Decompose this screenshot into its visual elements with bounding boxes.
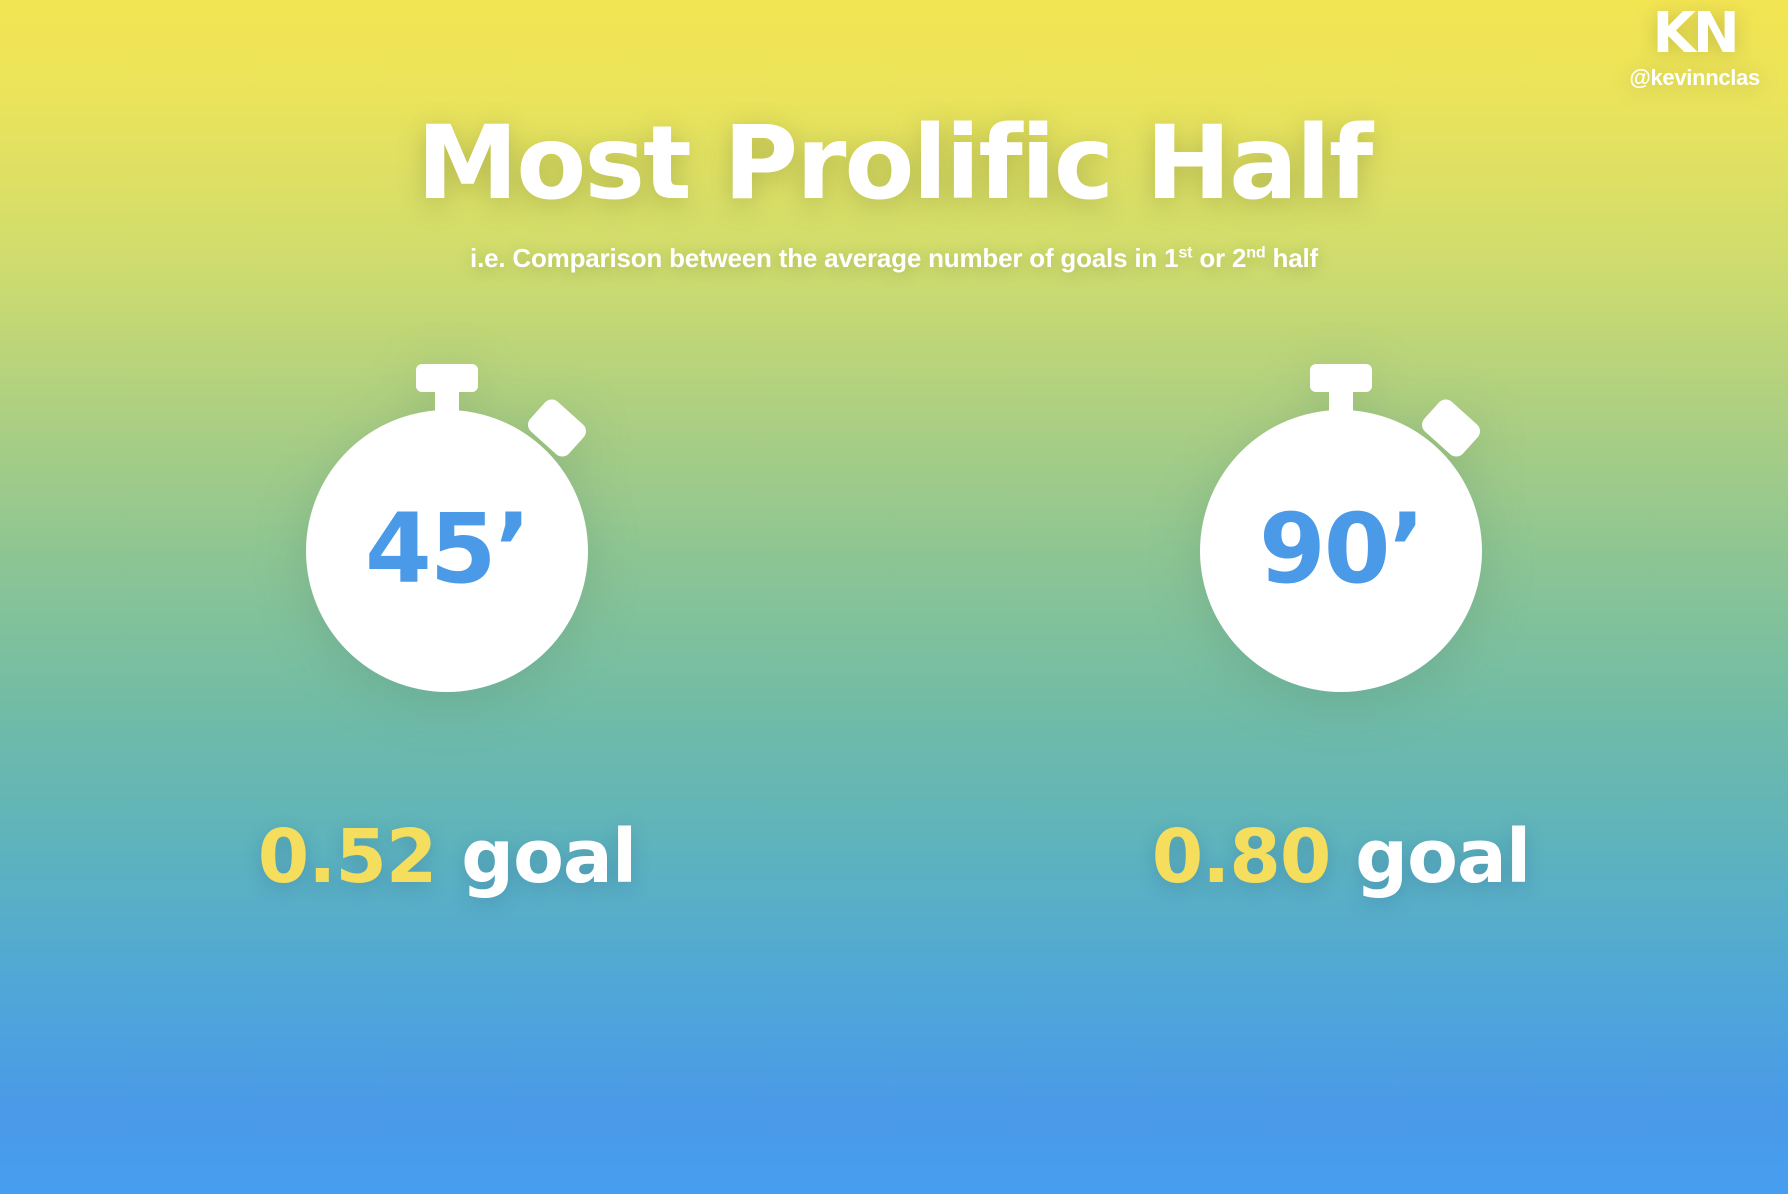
stopwatch-dial-label: 45’ bbox=[365, 501, 529, 597]
subtitle-sup-first: st bbox=[1178, 243, 1192, 261]
value-unit bbox=[436, 814, 461, 900]
stopwatch-icon: 90’ bbox=[1191, 360, 1491, 692]
stopwatch-dial: 90’ bbox=[1200, 410, 1482, 692]
panel-first-half: 45’ 0.52 goal bbox=[0, 360, 894, 900]
subtitle-suffix: half bbox=[1266, 243, 1318, 273]
stopwatch-dial-label: 90’ bbox=[1259, 501, 1423, 597]
value-row-second-half: 0.80 goal bbox=[1152, 814, 1530, 900]
stopwatch-dial: 45’ bbox=[306, 410, 588, 692]
panel-second-half: 90’ 0.80 goal bbox=[894, 360, 1788, 900]
value-unit bbox=[1330, 814, 1355, 900]
subtitle-prefix: i.e. Comparison between the average numb… bbox=[470, 243, 1178, 273]
subtitle-sup-second: nd bbox=[1246, 243, 1265, 261]
brand-logo-mark: KN bbox=[1653, 6, 1737, 62]
comparison-panels: 45’ 0.52 goal 90’ 0.80 goal bbox=[0, 360, 1788, 900]
value-unit-label: goal bbox=[461, 814, 636, 900]
brand-handle: @kevinnclas bbox=[1629, 66, 1760, 90]
brand-watermark: KN @kevinnclas bbox=[1629, 6, 1760, 90]
value-number: 0.80 bbox=[1152, 814, 1331, 900]
page-title: Most Prolific Half bbox=[0, 110, 1788, 217]
value-number: 0.52 bbox=[258, 814, 437, 900]
value-row-first-half: 0.52 goal bbox=[258, 814, 636, 900]
page-subtitle: i.e. Comparison between the average numb… bbox=[0, 243, 1788, 274]
header: Most Prolific Half i.e. Comparison betwe… bbox=[0, 110, 1788, 274]
value-unit-label: goal bbox=[1355, 814, 1530, 900]
stopwatch-icon: 45’ bbox=[297, 360, 597, 692]
subtitle-middle: or 2 bbox=[1192, 243, 1246, 273]
